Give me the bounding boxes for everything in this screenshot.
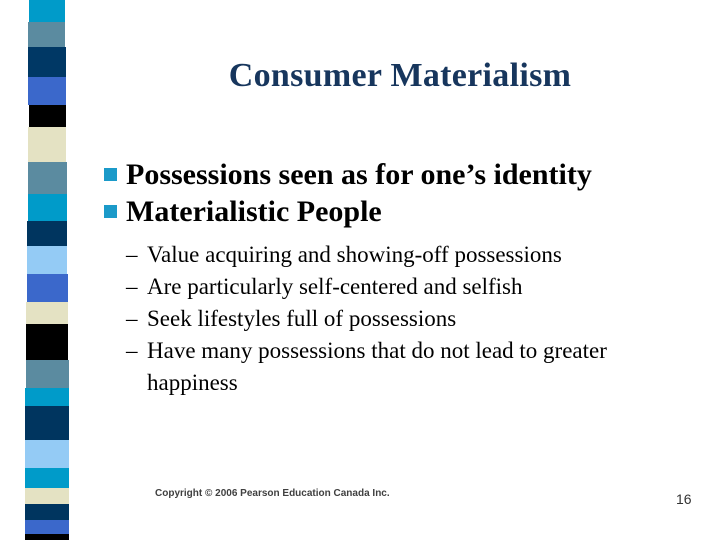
stripe-band (26, 302, 68, 324)
sub-bullet-list: – Value acquiring and showing-off posses… (104, 239, 704, 399)
slide-body: Possessions seen as for one’s identity M… (104, 156, 704, 399)
sub-bullet-item: – Are particularly self-centered and sel… (126, 271, 704, 303)
stripe-band (25, 388, 69, 406)
sub-bullet-item: – Value acquiring and showing-off posses… (126, 239, 704, 271)
sub-bullet-item: – Have many possessions that do not lead… (126, 335, 704, 399)
stripe-band (27, 246, 67, 274)
page-number: 16 (676, 491, 692, 508)
sub-bullet-label: Seek lifestyles full of possessions (147, 303, 456, 335)
stripe-band (26, 324, 68, 360)
stripe-band (25, 488, 69, 504)
bullet-label: Possessions seen as for one’s identity (126, 156, 592, 193)
stripe-band (25, 440, 69, 468)
bullet-item-materialistic-people: Materialistic People (104, 193, 704, 230)
sub-bullet-label: Value acquiring and showing-off possessi… (147, 239, 562, 271)
stripe-band (28, 194, 67, 221)
stripe-band (25, 520, 69, 534)
bullet-item-possessions: Possessions seen as for one’s identity (104, 156, 704, 193)
en-dash-icon: – (126, 335, 147, 367)
sub-bullet-item: – Seek lifestyles full of possessions (126, 303, 704, 335)
en-dash-icon: – (126, 239, 147, 271)
stripe-band (25, 468, 69, 488)
bullet-label: Materialistic People (126, 193, 382, 230)
slide-canvas: Consumer Materialism Possessions seen as… (0, 0, 720, 540)
copyright-notice: Copyright © 2006 Pearson Education Canad… (155, 487, 390, 500)
en-dash-icon: – (126, 271, 147, 303)
stripe-band (28, 47, 66, 77)
stripe-band (27, 221, 67, 246)
stripe-band (25, 504, 69, 520)
stripe-band (27, 274, 68, 302)
stripe-band (28, 77, 66, 105)
stripe-band (29, 105, 66, 127)
sub-bullet-label: Have many possessions that do not lead t… (147, 335, 637, 399)
square-bullet-icon (104, 205, 117, 218)
stripe-band (25, 534, 69, 540)
sub-bullet-label: Are particularly self-centered and selfi… (147, 271, 523, 303)
stripe-band (28, 127, 66, 162)
left-color-stripe (0, 0, 100, 540)
page-title: Consumer Materialism (100, 56, 700, 96)
stripe-band (29, 0, 65, 22)
stripe-band (26, 360, 69, 388)
en-dash-icon: – (126, 303, 147, 335)
stripe-band (28, 162, 67, 194)
square-bullet-icon (104, 168, 117, 181)
stripe-band (28, 22, 65, 47)
stripe-band (25, 406, 69, 440)
